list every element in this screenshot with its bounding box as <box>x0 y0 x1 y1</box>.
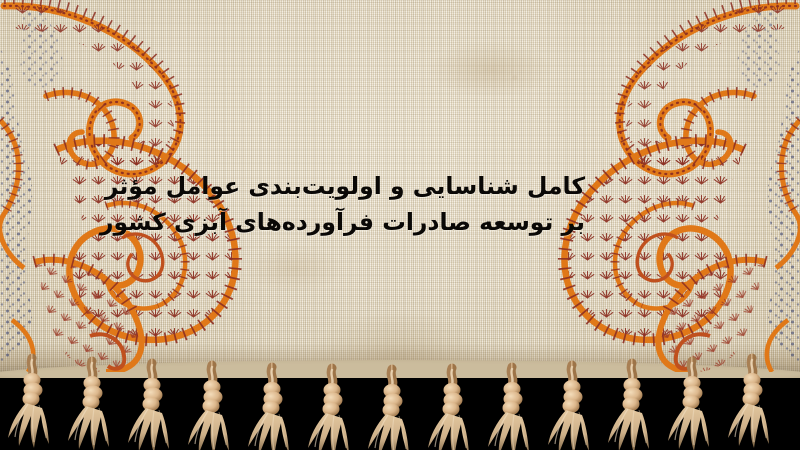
tassel-fringe <box>0 350 800 450</box>
tassel-fringe-svg <box>0 350 800 450</box>
slide-title: کامل شناسایی و اولویت‌بندی عوامل مؤثر بر… <box>195 168 585 240</box>
slide-canvas: کامل شناسایی و اولویت‌بندی عوامل مؤثر بر… <box>0 0 800 450</box>
title-line-2: بر توسعه صادرات فرآورده‌های آبزی کشور <box>195 204 585 240</box>
title-line-1: کامل شناسایی و اولویت‌بندی عوامل مؤثر <box>195 168 585 204</box>
